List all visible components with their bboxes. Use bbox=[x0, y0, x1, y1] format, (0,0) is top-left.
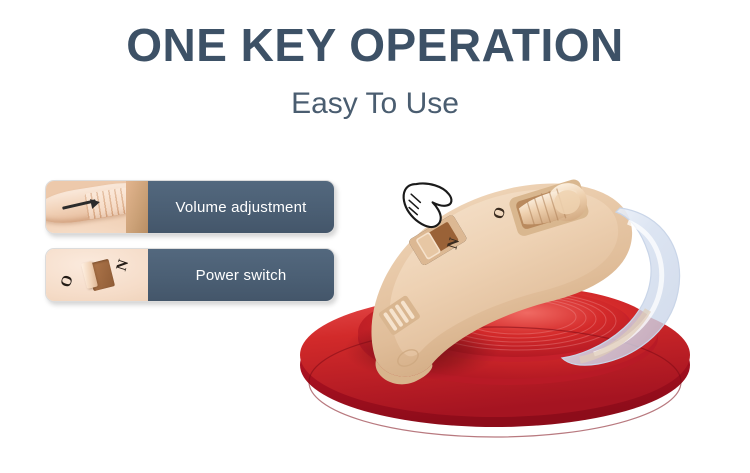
page-title: ONE KEY OPERATION bbox=[0, 18, 750, 72]
power-switch-label-n: N bbox=[114, 258, 134, 274]
shell-edge-shape bbox=[126, 181, 148, 233]
product-illustration: N O bbox=[280, 150, 750, 450]
volume-wheel-thumbnail bbox=[46, 181, 148, 233]
page-subtitle: Easy To Use bbox=[0, 86, 750, 122]
volume-arrowhead-icon bbox=[90, 197, 101, 209]
promo-banner: ONE KEY OPERATION Easy To Use Volume adj… bbox=[0, 0, 750, 473]
power-switch-thumbnail: O N bbox=[46, 249, 148, 301]
power-switch-label-o: O bbox=[58, 273, 78, 289]
